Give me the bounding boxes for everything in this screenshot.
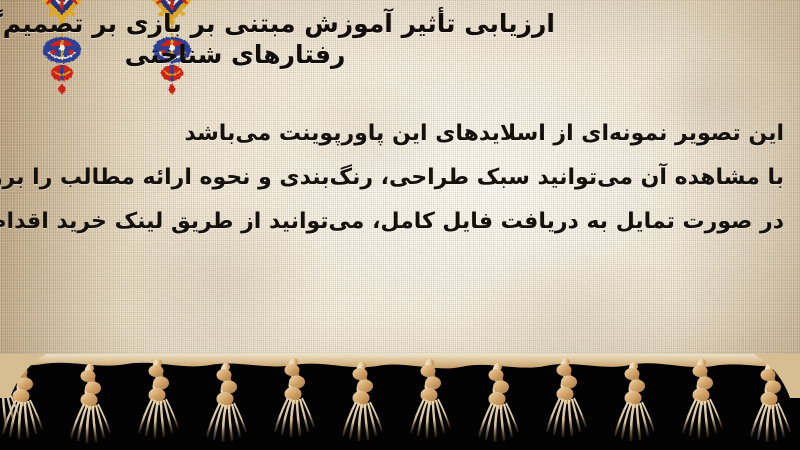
slide-title-line-1: ارزیابی تأثیر آموزش مبتنی بر بازی بر تصم… <box>7 8 555 39</box>
body-line-design-review: با مشاهده آن می‌توانید سبک طراحی، رنگ‌بن… <box>14 156 784 200</box>
knotted-tassel-fringe <box>0 354 800 450</box>
body-line-purchase-link: در صورت تمایل به دریافت فایل کامل، می‌تو… <box>14 200 784 244</box>
fringe-corner-cloth-left <box>0 354 46 398</box>
fringe-corner-cloth-right <box>754 354 800 398</box>
slide-title: ارزیابی تأثیر آموزش مبتنی بر بازی بر تصم… <box>7 8 555 70</box>
slide-body-text: این تصویر نمونه‌ای از اسلایدهای این پاور… <box>14 112 784 244</box>
fringe-tassel-row <box>0 354 800 450</box>
slide-title-line-2: رفتارهای شناختی <box>7 39 555 70</box>
slide-canvas: ارزیابی تأثیر آموزش مبتنی بر بازی بر تصم… <box>0 0 800 450</box>
body-line-sample-notice: این تصویر نمونه‌ای از اسلایدهای این پاور… <box>14 112 784 156</box>
